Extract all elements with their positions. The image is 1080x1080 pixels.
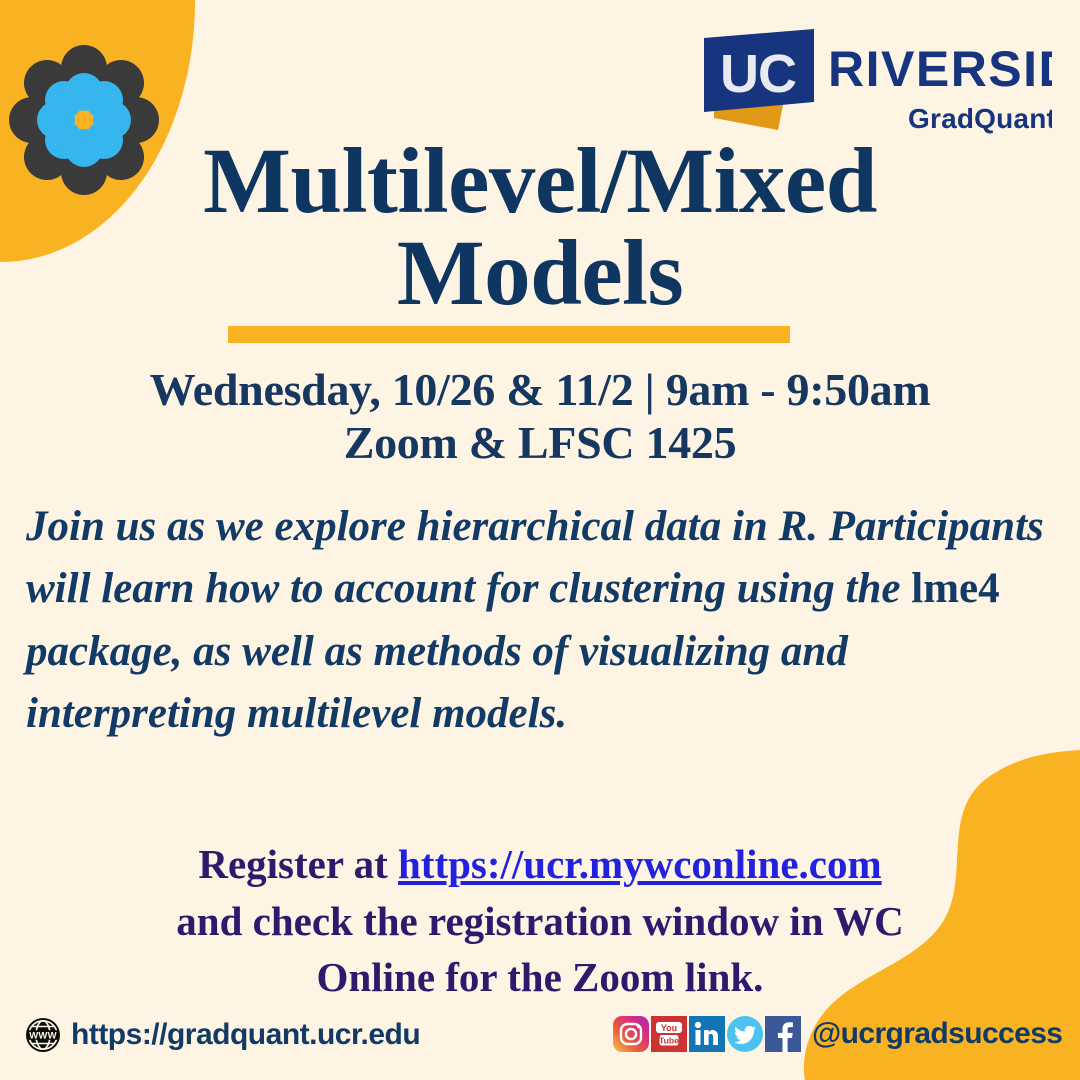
facebook-icon[interactable] (765, 1016, 801, 1052)
registration-prefix: Register at (198, 841, 398, 887)
footer-social: You Tube @ucrgradsuccess (613, 1016, 1062, 1052)
svg-text:UC: UC (720, 44, 796, 104)
linkedin-icon[interactable] (689, 1016, 725, 1052)
registration-line-2: and check the registration window in WC (40, 893, 1040, 950)
registration-info: Register at https://ucr.mywconline.com a… (40, 836, 1040, 1006)
registration-line-1: Register at https://ucr.mywconline.com (40, 836, 1040, 893)
instagram-icon[interactable] (613, 1016, 649, 1052)
twitter-icon[interactable] (727, 1016, 763, 1052)
footer-website[interactable]: WWW https://gradquant.ucr.edu (24, 1016, 420, 1054)
event-description: Join us as we explore hierarchical data … (26, 496, 1056, 745)
registration-link[interactable]: https://ucr.mywconline.com (398, 841, 882, 887)
event-schedule: Wednesday, 10/26 & 11/2 | 9am - 9:50am Z… (40, 364, 1040, 470)
event-date-time: Wednesday, 10/26 & 11/2 | 9am - 9:50am (40, 364, 1040, 417)
footer-social-handle[interactable]: @ucrgradsuccess (812, 1017, 1062, 1051)
svg-text:GradQuant: GradQuant (908, 103, 1052, 134)
svg-text:Tube: Tube (659, 1035, 679, 1045)
registration-line-3: Online for the Zoom link. (40, 949, 1040, 1006)
page-title-line-1: Multilevel/Mixed (90, 136, 990, 228)
svg-text:WWW: WWW (29, 1031, 57, 1042)
youtube-icon[interactable]: You Tube (651, 1016, 687, 1052)
description-package-name: lme4 (911, 565, 999, 612)
footer-website-url[interactable]: https://gradquant.ucr.edu (71, 1018, 420, 1052)
ucr-gradquant-logo: UC RIVERSIDE GradQuant (692, 26, 1052, 141)
globe-www-icon: WWW (24, 1016, 62, 1054)
svg-text:RIVERSIDE: RIVERSIDE (828, 41, 1052, 97)
page-title: Multilevel/Mixed Models (90, 136, 990, 320)
description-part-1: Join us as we explore hierarchical data … (26, 503, 1044, 612)
svg-text:You: You (661, 1023, 677, 1033)
event-location: Zoom & LFSC 1425 (40, 417, 1040, 470)
page-title-line-2: Models (90, 228, 990, 320)
flyer-canvas: UC RIVERSIDE GradQuant Multilevel/Mixed … (0, 0, 1080, 1080)
title-underline-rule (228, 326, 790, 343)
ucr-logo-shape: UC RIVERSIDE GradQuant (692, 26, 1052, 141)
description-part-2: package, as well as methods of visualizi… (26, 628, 848, 737)
